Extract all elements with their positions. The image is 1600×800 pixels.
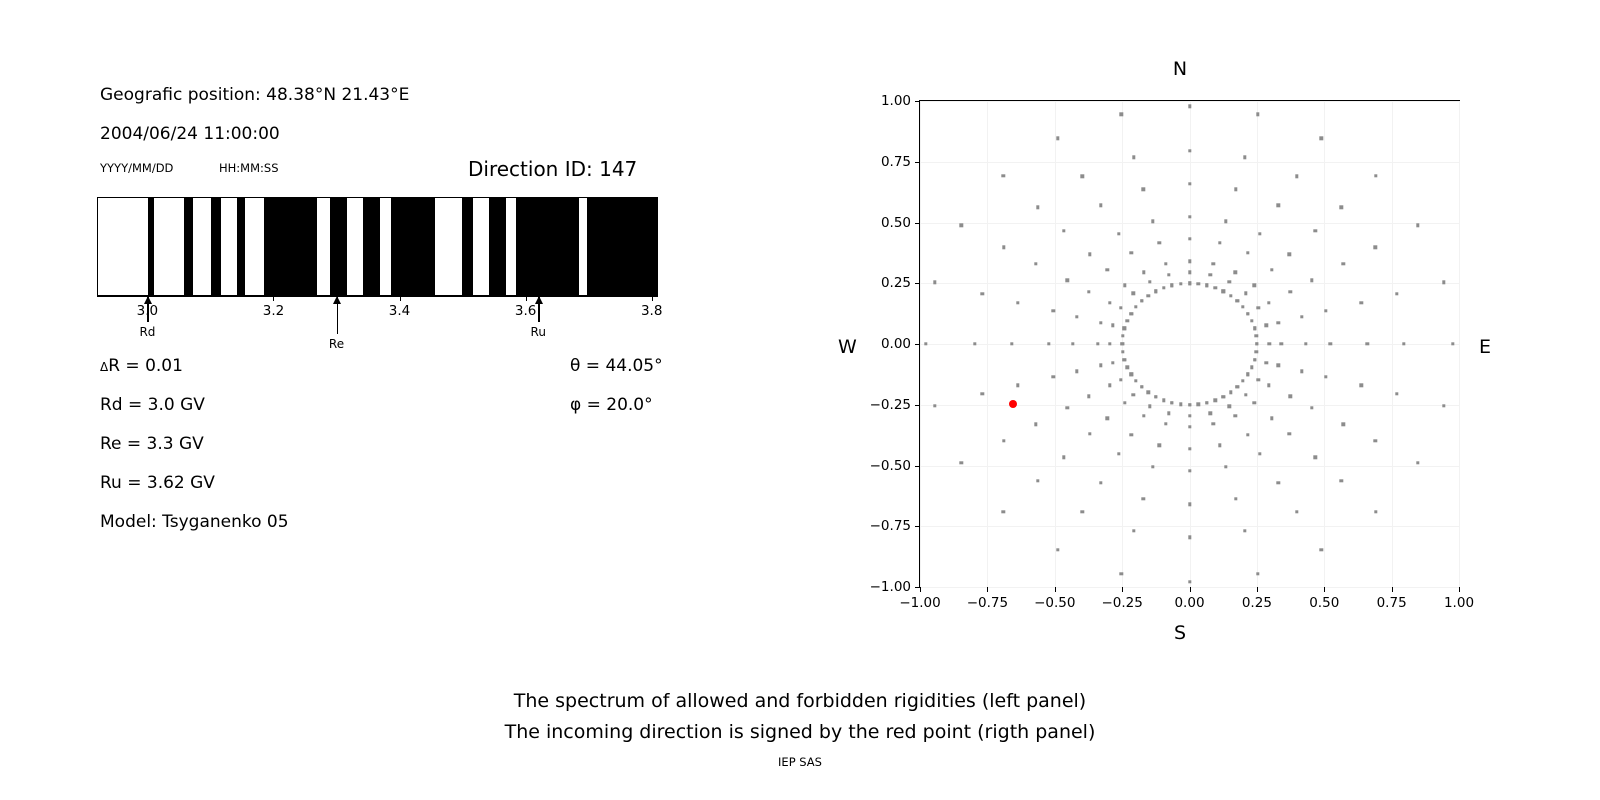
direction-dot	[1162, 398, 1165, 401]
direction-dot	[1218, 444, 1221, 447]
direction-dot	[1188, 447, 1191, 450]
direction-dot	[1140, 385, 1143, 388]
direction-dot	[1246, 433, 1249, 436]
direction-dot	[1320, 548, 1323, 551]
direction-map-plot: −1.00−0.75−0.50−0.250.000.250.500.751.00…	[919, 100, 1460, 588]
gridline-horizontal	[920, 526, 1459, 527]
direction-dot	[1111, 361, 1114, 364]
direction-dot	[1267, 342, 1270, 345]
x-axis-tick	[1190, 587, 1191, 592]
direction-dot	[1158, 444, 1161, 447]
caption-line-1: The spectrum of allowed and forbidden ri…	[0, 686, 1600, 717]
direction-dot	[1002, 246, 1005, 249]
direction-dot	[1208, 273, 1211, 276]
direction-dot	[1130, 433, 1133, 436]
direction-dot	[1087, 395, 1090, 398]
direction-dot	[1265, 361, 1268, 364]
direction-dot	[1120, 113, 1123, 116]
direction-dot	[933, 404, 936, 407]
direction-dot	[1170, 284, 1173, 287]
direction-dot	[1243, 529, 1246, 532]
direction-dot	[1099, 481, 1102, 484]
direction-dot	[1142, 271, 1145, 274]
direction-dot	[1257, 378, 1260, 381]
direction-dot	[1088, 432, 1091, 435]
direction-map-canvas	[920, 101, 1459, 587]
direction-dot	[1244, 393, 1247, 396]
direction-dot	[1154, 290, 1157, 293]
direction-dot	[1277, 481, 1280, 484]
direction-dot	[1034, 262, 1037, 265]
direction-dot	[1164, 262, 1167, 265]
y-axis-tick-label: −0.75	[870, 518, 911, 534]
direction-dot	[1277, 321, 1280, 324]
direction-dot	[1179, 282, 1182, 285]
direction-dot	[1099, 364, 1102, 367]
gridline-horizontal	[920, 344, 1459, 345]
direction-dot	[1188, 149, 1191, 152]
direction-dot	[1234, 497, 1237, 500]
y-axis-tick-label: −0.25	[870, 397, 911, 413]
direction-dot	[1339, 206, 1342, 209]
direction-dot	[960, 223, 963, 226]
direction-dot	[1119, 378, 1122, 381]
direction-dot	[1134, 305, 1137, 308]
direction-dot	[1123, 284, 1126, 287]
direction-dot	[1052, 375, 1055, 378]
direction-dot	[1170, 401, 1173, 404]
direction-dot	[1188, 237, 1191, 240]
direction-dot	[1075, 315, 1078, 318]
direction-dot	[1131, 292, 1134, 295]
direction-dot	[1052, 309, 1055, 312]
y-axis-tick-label: 1.00	[881, 93, 911, 109]
direction-dot	[1188, 182, 1191, 185]
direction-dot	[1246, 251, 1249, 254]
direction-dot	[1066, 279, 1069, 282]
direction-dot	[1134, 379, 1137, 382]
direction-dot	[1154, 395, 1157, 398]
direction-dot	[1214, 286, 1217, 289]
direction-dot	[1324, 375, 1327, 378]
direction-dot	[1402, 342, 1405, 345]
gridline-horizontal	[920, 223, 1459, 224]
direction-dot	[1142, 414, 1145, 417]
figure-caption: The spectrum of allowed and forbidden ri…	[0, 686, 1600, 748]
x-axis-tick	[987, 587, 988, 592]
direction-dot	[1258, 232, 1261, 235]
direction-dot	[1036, 206, 1039, 209]
direction-dot	[1255, 334, 1258, 337]
direction-dot	[1234, 414, 1237, 417]
direction-dot	[1287, 432, 1290, 435]
direction-dot	[1310, 406, 1313, 409]
direction-dot	[1243, 155, 1246, 158]
direction-dot	[1167, 412, 1170, 415]
direction-dot	[1304, 342, 1307, 345]
x-axis-tick-label: −1.00	[899, 595, 940, 611]
direction-dot	[1111, 324, 1114, 327]
direction-dot	[1280, 342, 1283, 345]
direction-dot	[1257, 306, 1260, 309]
gridline-vertical	[1459, 101, 1460, 587]
direction-dot	[1416, 461, 1419, 464]
direction-dot	[1062, 229, 1065, 232]
x-axis-tick-label: 0.25	[1242, 595, 1272, 611]
direction-dot	[1120, 572, 1123, 575]
direction-dot	[1244, 292, 1247, 295]
direction-dot	[1081, 175, 1084, 178]
direction-dot	[1002, 439, 1005, 442]
direction-dot	[1188, 282, 1191, 285]
direction-dot	[1081, 510, 1084, 513]
direction-dot	[1295, 175, 1298, 178]
direction-dot	[1310, 279, 1313, 282]
y-axis-tick-label: 0.75	[881, 154, 911, 170]
direction-dot	[1342, 422, 1345, 425]
direction-dot	[1120, 342, 1123, 345]
direction-dot	[1036, 479, 1039, 482]
direction-dot	[1224, 465, 1227, 468]
direction-dot	[1241, 305, 1244, 308]
direction-dot	[1395, 292, 1398, 295]
direction-dot	[1121, 334, 1124, 337]
direction-dot	[1277, 364, 1280, 367]
direction-dot	[1105, 268, 1108, 271]
direction-dot	[1253, 358, 1256, 361]
direction-dot	[1265, 324, 1268, 327]
direction-dot	[981, 292, 984, 295]
direction-dot	[1047, 342, 1050, 345]
direction-dot	[1075, 369, 1078, 372]
direction-dot	[1096, 342, 1099, 345]
direction-dot	[1235, 299, 1238, 302]
direction-dot	[1016, 384, 1019, 387]
x-axis-tick-label: 0.00	[1174, 595, 1204, 611]
direction-dot	[1255, 350, 1258, 353]
direction-dot	[1253, 327, 1256, 330]
direction-dot	[1001, 174, 1004, 177]
direction-dot	[1197, 403, 1200, 406]
direction-dot	[1250, 319, 1253, 322]
direction-dot	[1329, 342, 1332, 345]
direction-dot	[1001, 510, 1004, 513]
x-axis-tick-label: 1.00	[1444, 595, 1474, 611]
caption-line-2: The incoming direction is signed by the …	[0, 717, 1600, 748]
direction-dot	[1267, 301, 1270, 304]
direction-dot	[1229, 390, 1232, 393]
y-axis-tick-label: 0.00	[881, 336, 911, 352]
direction-dot	[1267, 384, 1270, 387]
direction-dot	[1188, 414, 1191, 417]
x-axis-tick	[1324, 587, 1325, 592]
direction-dot	[924, 342, 927, 345]
footer-credit: IEP SAS	[0, 755, 1600, 769]
x-axis-tick-label: 0.75	[1377, 595, 1407, 611]
direction-dot	[1197, 282, 1200, 285]
direction-dot	[1241, 379, 1244, 382]
direction-dot	[1313, 229, 1316, 232]
direction-dot	[1374, 246, 1377, 249]
direction-dot	[1129, 312, 1132, 315]
direction-dot	[1212, 422, 1215, 425]
x-axis-tick-label: 0.50	[1309, 595, 1339, 611]
y-axis-tick	[915, 162, 920, 163]
direction-dot	[1256, 113, 1259, 116]
direction-dot	[1129, 373, 1132, 376]
direction-dot	[1188, 270, 1191, 273]
direction-dot	[1188, 425, 1191, 428]
direction-dot	[1162, 286, 1165, 289]
direction-dot	[1062, 456, 1065, 459]
direction-dot	[1221, 290, 1224, 293]
direction-dot	[1151, 220, 1154, 223]
compass-label-west: W	[838, 336, 857, 358]
x-axis-tick-label: −0.75	[967, 595, 1008, 611]
direction-dot	[1188, 215, 1191, 218]
direction-dot	[1119, 306, 1122, 309]
direction-dot	[1188, 580, 1191, 583]
direction-dot	[1253, 284, 1256, 287]
direction-dot	[1359, 301, 1362, 304]
direction-dot	[1442, 281, 1445, 284]
x-axis-tick	[1122, 587, 1123, 592]
direction-dot	[1164, 422, 1167, 425]
direction-dot	[1320, 136, 1323, 139]
direction-dot	[1287, 252, 1290, 255]
compass-label-north: N	[1173, 58, 1187, 80]
direction-dot	[1188, 105, 1191, 108]
direction-dot	[1167, 273, 1170, 276]
direction-dot	[1056, 136, 1059, 139]
direction-dot	[933, 281, 936, 284]
direction-dot	[1208, 412, 1211, 415]
direction-dot	[1295, 510, 1298, 513]
direction-dot	[960, 461, 963, 464]
x-axis-tick-label: −0.25	[1101, 595, 1142, 611]
x-axis-tick	[1392, 587, 1393, 592]
direction-dot	[1126, 319, 1129, 322]
y-axis-tick-label: 0.25	[881, 275, 911, 291]
gridline-horizontal	[920, 162, 1459, 163]
direction-dot	[1158, 241, 1161, 244]
compass-label-east: E	[1479, 336, 1491, 358]
direction-dot	[1234, 187, 1237, 190]
direction-dot	[1270, 417, 1273, 420]
x-axis-tick	[1459, 587, 1460, 592]
direction-dot	[1218, 241, 1221, 244]
direction-dot	[1179, 403, 1182, 406]
direction-dot	[1121, 350, 1124, 353]
gridline-horizontal	[920, 101, 1459, 102]
y-axis-tick-label: −1.00	[870, 579, 911, 595]
direction-dot	[1212, 262, 1215, 265]
direction-dot	[1126, 366, 1129, 369]
direction-dot	[1416, 223, 1419, 226]
x-axis-tick	[1055, 587, 1056, 592]
x-axis-tick	[1257, 587, 1258, 592]
y-axis-tick	[915, 466, 920, 467]
y-axis-tick-label: 0.50	[881, 215, 911, 231]
direction-dot	[1130, 251, 1133, 254]
direction-dot	[1235, 385, 1238, 388]
direction-dot	[1132, 155, 1135, 158]
x-axis-tick-label: −0.50	[1034, 595, 1075, 611]
direction-dot	[1188, 469, 1191, 472]
direction-dot	[1228, 404, 1231, 407]
direction-dot	[1289, 395, 1292, 398]
direction-dot	[1142, 497, 1145, 500]
gridline-horizontal	[920, 466, 1459, 467]
direction-dot	[1246, 373, 1249, 376]
direction-dot	[1324, 309, 1327, 312]
direction-dot	[1255, 342, 1258, 345]
y-axis-tick	[915, 526, 920, 527]
direction-dot	[1188, 503, 1191, 506]
direction-dot	[1108, 342, 1111, 345]
direction-dot	[1099, 321, 1102, 324]
direction-dot	[1300, 369, 1303, 372]
direction-dot	[1234, 271, 1237, 274]
direction-dot	[1123, 358, 1126, 361]
direction-dot	[1147, 390, 1150, 393]
direction-dot	[1088, 252, 1091, 255]
y-axis-tick	[915, 344, 920, 345]
direction-dot	[1148, 404, 1151, 407]
direction-dot	[1442, 404, 1445, 407]
direction-dot	[981, 392, 984, 395]
direction-dot	[1123, 327, 1126, 330]
direction-map-panel: −1.00−0.75−0.50−0.250.000.250.500.751.00…	[0, 0, 1600, 660]
direction-dot	[1108, 301, 1111, 304]
direction-dot	[973, 342, 976, 345]
direction-dot	[1374, 510, 1377, 513]
direction-dot	[1132, 529, 1135, 532]
direction-dot	[1034, 422, 1037, 425]
compass-label-south: S	[1174, 622, 1186, 644]
direction-dot	[1071, 342, 1074, 345]
direction-dot	[1256, 572, 1259, 575]
direction-dot	[1228, 280, 1231, 283]
direction-dot	[1016, 301, 1019, 304]
y-axis-tick	[915, 405, 920, 406]
direction-dot	[1066, 406, 1069, 409]
direction-dot	[1277, 204, 1280, 207]
direction-dot	[1224, 220, 1227, 223]
direction-dot	[1108, 384, 1111, 387]
direction-dot	[1142, 187, 1145, 190]
direction-dot	[1010, 342, 1013, 345]
direction-dot	[1151, 465, 1154, 468]
direction-dot	[1056, 548, 1059, 551]
direction-dot	[1205, 284, 1208, 287]
direction-dot	[1366, 342, 1369, 345]
direction-dot	[1300, 315, 1303, 318]
direction-dot	[1250, 366, 1253, 369]
direction-dot	[1214, 398, 1217, 401]
direction-dot	[1117, 452, 1120, 455]
direction-dot	[1140, 299, 1143, 302]
direction-dot	[1395, 392, 1398, 395]
direction-dot	[1342, 262, 1345, 265]
direction-dot	[1289, 290, 1292, 293]
direction-dot	[1374, 439, 1377, 442]
direction-dot	[1374, 174, 1377, 177]
direction-dot	[1147, 294, 1150, 297]
direction-dot	[1117, 232, 1120, 235]
direction-dot	[1229, 294, 1232, 297]
direction-dot	[1099, 204, 1102, 207]
direction-dot	[1105, 417, 1108, 420]
direction-dot	[1253, 401, 1256, 404]
direction-dot	[1246, 312, 1249, 315]
direction-dot	[1205, 401, 1208, 404]
y-axis-tick	[915, 283, 920, 284]
direction-dot	[1221, 395, 1224, 398]
direction-dot	[1188, 259, 1191, 262]
direction-dot	[1131, 393, 1134, 396]
direction-dot	[1258, 452, 1261, 455]
incoming-direction-point	[1009, 400, 1017, 408]
x-axis-tick	[920, 587, 921, 592]
y-axis-tick-label: −0.50	[870, 458, 911, 474]
direction-dot	[1313, 456, 1316, 459]
y-axis-tick	[915, 101, 920, 102]
direction-dot	[1270, 268, 1273, 271]
direction-dot	[1188, 536, 1191, 539]
direction-dot	[1359, 384, 1362, 387]
direction-dot	[1123, 401, 1126, 404]
direction-dot	[1148, 280, 1151, 283]
y-axis-tick	[915, 223, 920, 224]
direction-dot	[1188, 403, 1191, 406]
direction-dot	[1087, 290, 1090, 293]
direction-dot	[1339, 479, 1342, 482]
direction-dot	[1451, 342, 1454, 345]
